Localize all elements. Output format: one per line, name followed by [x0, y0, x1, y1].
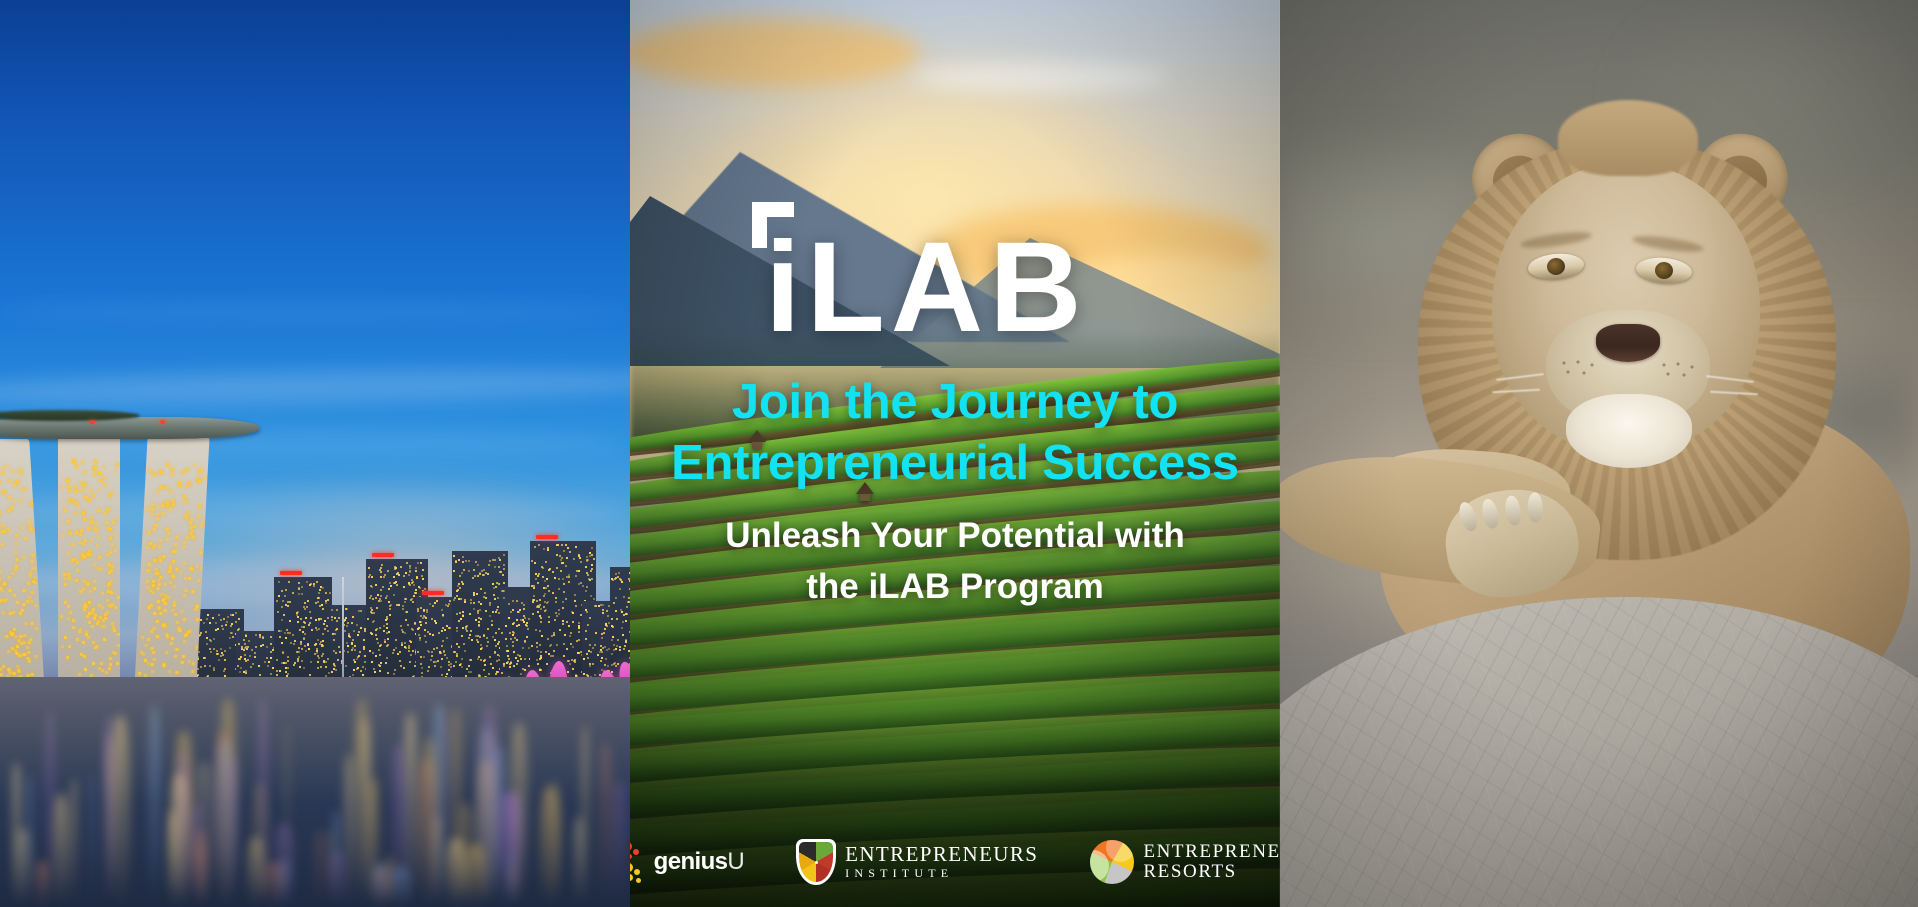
window-light	[412, 581, 414, 583]
window-light	[171, 499, 174, 502]
window-light	[98, 556, 101, 559]
window-light	[546, 602, 548, 604]
window-light	[0, 481, 1, 484]
window-light	[519, 655, 521, 657]
window-light	[331, 609, 333, 611]
window-light	[373, 620, 375, 622]
window-light	[78, 630, 81, 633]
window-light	[88, 621, 91, 624]
window-light	[303, 606, 305, 608]
window-light	[20, 642, 23, 645]
window-light	[380, 571, 382, 573]
window-light	[93, 473, 96, 476]
window-light	[21, 609, 24, 612]
window-light	[67, 573, 70, 576]
window-light	[469, 613, 471, 615]
window-light	[483, 569, 485, 571]
window-light	[575, 546, 577, 548]
window-light	[406, 611, 408, 613]
window-light	[299, 629, 301, 631]
window-light	[98, 472, 101, 475]
window-light	[453, 570, 455, 572]
window-light	[478, 601, 480, 603]
window-light	[103, 476, 106, 479]
water-reflection	[353, 699, 371, 907]
window-light	[552, 592, 554, 594]
window-light	[19, 473, 22, 476]
window-light	[377, 642, 379, 644]
water-reflection	[194, 762, 215, 907]
window-light	[461, 666, 463, 668]
window-light	[105, 521, 108, 524]
window-light	[102, 619, 105, 622]
window-light	[503, 554, 505, 556]
window-light	[441, 658, 443, 660]
window-light	[193, 464, 196, 467]
window-light	[302, 631, 304, 633]
window-light	[601, 637, 603, 639]
window-light	[544, 610, 546, 612]
window-light	[508, 603, 510, 605]
window-light	[416, 576, 418, 578]
pinwheel-circle-icon	[1090, 840, 1134, 884]
window-light	[299, 666, 301, 668]
window-light	[141, 636, 144, 639]
window-light	[301, 648, 303, 650]
window-light	[11, 572, 14, 575]
window-light	[386, 616, 388, 618]
window-light	[456, 627, 458, 629]
window-light	[458, 620, 460, 622]
window-light	[479, 609, 481, 611]
window-light	[149, 542, 152, 545]
window-light	[553, 650, 555, 652]
window-light	[578, 583, 580, 585]
window-light	[377, 594, 379, 596]
window-light	[447, 605, 449, 607]
window-light	[34, 576, 37, 579]
window-light	[270, 643, 272, 645]
window-light	[539, 604, 541, 606]
window-light	[626, 613, 628, 615]
window-light	[69, 532, 72, 535]
window-light	[453, 651, 455, 653]
window-light	[152, 651, 155, 654]
window-light	[230, 614, 232, 616]
window-light	[516, 600, 518, 602]
window-light	[162, 555, 165, 558]
window-light	[455, 661, 457, 663]
window-light	[154, 572, 157, 575]
window-light	[389, 582, 391, 584]
water-reflection	[344, 754, 354, 907]
window-light	[573, 660, 575, 662]
window-light	[578, 570, 580, 572]
window-light	[380, 662, 382, 664]
window-light	[441, 630, 443, 632]
window-light	[531, 645, 533, 647]
window-light	[8, 589, 11, 592]
window-light	[388, 631, 390, 633]
window-light	[568, 576, 570, 578]
water-reflection	[332, 811, 340, 907]
window-light	[357, 634, 359, 636]
window-light	[427, 631, 429, 633]
water-reflection	[465, 844, 486, 907]
lion-claw	[1480, 497, 1501, 529]
window-light	[423, 656, 425, 658]
window-light	[13, 628, 16, 631]
window-light	[594, 644, 596, 646]
window-light	[286, 629, 288, 631]
window-light	[92, 641, 95, 644]
window-light	[616, 618, 618, 620]
window-light	[494, 598, 496, 600]
window-light	[586, 653, 588, 655]
window-light	[510, 611, 512, 613]
window-light	[153, 528, 156, 531]
window-light	[114, 606, 117, 609]
window-light	[315, 619, 317, 621]
window-light	[436, 647, 438, 649]
water-reflection	[612, 781, 627, 907]
window-light	[556, 644, 558, 646]
water-reflection	[386, 857, 394, 907]
window-light	[325, 661, 327, 663]
window-light	[539, 658, 541, 660]
window-light	[613, 644, 615, 646]
window-light	[491, 624, 493, 626]
window-light	[539, 644, 541, 646]
water-reflection	[88, 776, 97, 907]
window-light	[405, 572, 407, 574]
window-light	[165, 538, 168, 541]
window-light	[13, 500, 16, 503]
window-light	[0, 570, 1, 573]
window-light	[82, 641, 85, 644]
window-light	[164, 602, 167, 605]
window-light	[593, 558, 595, 560]
window-light	[371, 633, 373, 635]
window-light	[227, 616, 229, 618]
window-light	[574, 594, 576, 596]
window-light	[594, 605, 596, 607]
window-light	[230, 625, 232, 627]
water-reflection	[497, 792, 518, 907]
logo-dot	[630, 863, 633, 872]
window-light	[497, 597, 499, 599]
window-light	[165, 633, 168, 636]
window-light	[166, 463, 169, 466]
window-light	[287, 667, 289, 669]
window-light	[492, 636, 494, 638]
window-light	[114, 549, 117, 552]
window-light	[516, 625, 518, 627]
window-light	[387, 570, 389, 572]
window-light	[443, 650, 445, 652]
window-light	[114, 534, 117, 537]
window-light	[492, 667, 494, 669]
er-line-2: RESORTS	[1143, 861, 1236, 882]
window-light	[459, 612, 461, 614]
water-reflection	[477, 725, 498, 907]
window-light	[14, 568, 17, 571]
window-light	[93, 580, 96, 583]
water-reflection	[391, 866, 410, 907]
window-light	[382, 586, 384, 588]
window-light	[396, 584, 398, 586]
water-reflection	[509, 866, 515, 907]
window-light	[324, 628, 326, 630]
window-light	[7, 650, 10, 653]
window-light	[268, 661, 270, 663]
window-light	[327, 630, 329, 632]
window-light	[86, 615, 89, 618]
window-light	[622, 621, 624, 623]
window-light	[95, 523, 98, 526]
window-light	[605, 623, 607, 625]
window-light	[319, 643, 321, 645]
window-light	[103, 625, 106, 628]
corner-bracket-icon	[752, 202, 794, 248]
window-light	[383, 625, 385, 627]
window-light	[460, 663, 462, 665]
window-light	[562, 607, 564, 609]
water-reflection	[456, 803, 475, 907]
window-light	[320, 666, 322, 668]
window-light	[11, 647, 14, 650]
window-light	[485, 597, 487, 599]
window-light	[478, 625, 480, 627]
window-light	[301, 586, 303, 588]
window-light	[0, 673, 3, 676]
water-reflection	[111, 716, 130, 907]
window-light	[563, 550, 565, 552]
window-light	[88, 612, 91, 615]
window-light	[552, 655, 554, 657]
window-light	[60, 615, 63, 618]
window-light	[226, 621, 228, 623]
window-light	[298, 647, 300, 649]
window-light	[158, 583, 161, 586]
window-light	[375, 584, 377, 586]
logo-entrepreneurs-institute[interactable]: ENTREPRENEURS INSTITUTE	[796, 839, 1038, 885]
window-light	[247, 659, 249, 661]
window-light	[285, 589, 287, 591]
window-light	[293, 664, 295, 666]
window-light	[402, 631, 404, 633]
window-light	[174, 543, 177, 546]
window-light	[380, 576, 382, 578]
window-light	[197, 579, 200, 582]
logo-entrepreneur-resorts[interactable]: ENTREPRENEUR RESORTS	[1090, 840, 1280, 884]
window-light	[270, 657, 272, 659]
window-light	[67, 485, 70, 488]
window-light	[466, 625, 468, 627]
window-light	[27, 651, 30, 654]
window-light	[183, 541, 186, 544]
window-light	[104, 512, 107, 515]
window-light	[570, 643, 572, 645]
window-light	[615, 648, 617, 650]
window-light	[153, 559, 156, 562]
window-light	[572, 646, 574, 648]
window-light	[470, 630, 472, 632]
window-light	[370, 607, 372, 609]
window-light	[89, 590, 92, 593]
window-light	[281, 590, 283, 592]
window-light	[13, 484, 16, 487]
window-light	[544, 580, 546, 582]
window-light	[79, 533, 82, 536]
water-reflection	[70, 779, 78, 907]
window-light	[2, 611, 5, 614]
window-light	[113, 629, 116, 632]
window-light	[316, 650, 318, 652]
window-light	[442, 640, 444, 642]
window-light	[461, 658, 463, 660]
window-light	[10, 506, 13, 509]
window-light	[440, 666, 442, 668]
window-light	[307, 600, 309, 602]
window-light	[334, 633, 336, 635]
window-light	[539, 630, 541, 632]
window-light	[520, 658, 522, 660]
window-light	[407, 624, 409, 626]
window-light	[394, 568, 396, 570]
window-light	[22, 589, 25, 592]
window-light	[83, 605, 86, 608]
window-light	[383, 576, 385, 578]
window-light	[347, 645, 349, 647]
window-light	[585, 630, 587, 632]
window-light	[116, 463, 119, 466]
window-light	[319, 589, 321, 591]
window-light	[465, 560, 467, 562]
window-light	[483, 635, 485, 637]
window-light	[393, 594, 395, 596]
water-reflection	[215, 731, 232, 907]
window-light	[293, 643, 295, 645]
window-light	[75, 465, 78, 468]
window-light	[76, 569, 79, 572]
water-reflection	[191, 802, 204, 907]
window-light	[468, 665, 470, 667]
window-light	[307, 644, 309, 646]
window-light	[279, 636, 281, 638]
window-light	[560, 570, 562, 572]
window-light	[28, 660, 31, 663]
window-light	[176, 568, 179, 571]
window-light	[615, 597, 617, 599]
window-light	[508, 617, 510, 619]
window-light	[96, 622, 99, 625]
lion-whisker-dots	[1558, 358, 1600, 380]
window-light	[497, 643, 499, 645]
window-light	[1, 524, 4, 527]
window-light	[403, 586, 405, 588]
window-light	[148, 563, 151, 566]
window-light	[114, 470, 117, 473]
window-light	[503, 597, 505, 599]
window-light	[100, 568, 103, 571]
window-light	[81, 553, 84, 556]
window-light	[602, 609, 604, 611]
window-light	[298, 593, 300, 595]
logo-geniusu[interactable]: geniusU	[630, 840, 744, 885]
window-light	[88, 499, 91, 502]
window-light	[329, 592, 331, 594]
window-light	[555, 612, 557, 614]
window-light	[320, 618, 322, 620]
window-light	[518, 624, 520, 626]
window-light	[174, 655, 177, 658]
window-light	[103, 638, 106, 641]
window-light	[240, 667, 242, 669]
window-light	[494, 566, 496, 568]
window-light	[480, 618, 482, 620]
window-light	[264, 661, 266, 663]
window-light	[281, 619, 283, 621]
window-light	[562, 623, 564, 625]
window-light	[0, 587, 2, 590]
partner-logo-strip: geniusU ENTREPRENEURS INSTITUTE	[630, 839, 1280, 885]
window-light	[97, 536, 100, 539]
window-light	[499, 559, 501, 561]
window-light	[417, 651, 419, 653]
window-light	[17, 670, 20, 673]
window-light	[79, 590, 82, 593]
window-light	[543, 606, 545, 608]
lion-claw	[1456, 500, 1480, 533]
ei-line-1: ENTREPRENEURS	[845, 842, 1038, 866]
window-light	[308, 648, 310, 650]
window-light	[591, 547, 593, 549]
window-light	[109, 537, 112, 540]
window-light	[75, 490, 78, 493]
window-light	[498, 583, 500, 585]
window-light	[472, 577, 474, 579]
window-light	[453, 599, 455, 601]
window-light	[422, 569, 424, 571]
water-reflection	[551, 780, 559, 907]
window-light	[151, 663, 154, 666]
panel-lion	[1280, 0, 1918, 907]
window-light	[15, 542, 18, 545]
aviation-light	[160, 420, 165, 424]
window-light	[297, 658, 299, 660]
window-light	[386, 623, 388, 625]
ei-line-2: INSTITUTE	[845, 866, 953, 880]
window-light	[492, 559, 494, 561]
window-light	[161, 512, 164, 515]
window-light	[289, 632, 291, 634]
window-light	[412, 629, 414, 631]
window-light	[492, 611, 494, 613]
window-light	[224, 659, 226, 661]
window-light	[449, 627, 451, 629]
window-light	[171, 468, 174, 471]
window-light	[279, 670, 281, 672]
window-light	[81, 484, 84, 487]
window-light	[424, 588, 426, 590]
window-light	[417, 610, 419, 612]
window-light	[415, 567, 417, 569]
water-reflection	[417, 758, 438, 907]
window-light	[476, 593, 478, 595]
window-light	[563, 643, 565, 645]
headline-line-2: Entrepreneurial Success	[671, 433, 1239, 494]
